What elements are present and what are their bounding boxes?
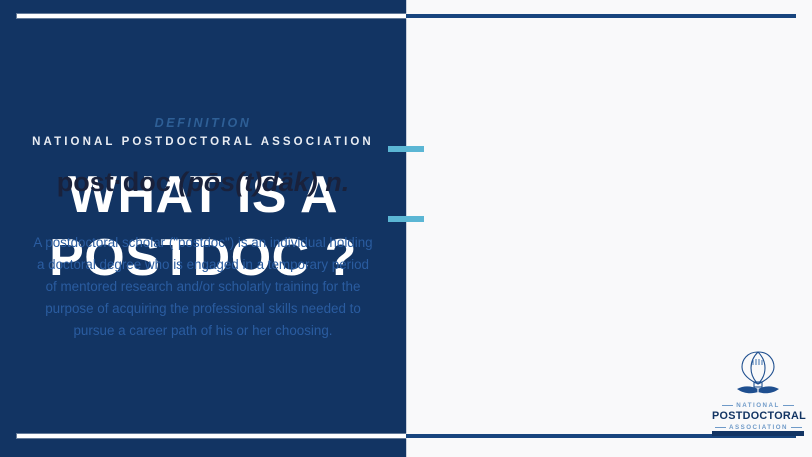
balloon-book-icon — [731, 349, 785, 399]
logo-underline-bar — [712, 431, 804, 436]
logo-tick-left-2 — [715, 427, 726, 428]
definition-label: DEFINITION — [0, 116, 406, 130]
definition-body: A postdoctoral scholar ("postdoc") is an… — [30, 232, 376, 342]
headword-pronunciation: (pōs(t)däk) n. — [178, 167, 349, 197]
slide-canvas: NATIONAL POSTDOCTORAL ASSOCIATION WHAT I… — [0, 0, 812, 457]
headword: post·doc (pōs(t)däk) n. — [0, 167, 406, 198]
organization-eyebrow: NATIONAL POSTDOCTORAL ASSOCIATION — [0, 136, 406, 148]
top-rule-left — [17, 14, 406, 18]
top-rule-right — [406, 14, 796, 18]
divider-dash-bottom — [388, 216, 424, 222]
bottom-rule-left — [17, 434, 406, 438]
divider-dash-top — [388, 146, 424, 152]
logo-tick-right — [783, 405, 794, 406]
logo-wordmark: NATIONAL POSTDOCTORAL ASSOCIATION — [712, 401, 804, 432]
logo-line-national: NATIONAL — [712, 401, 804, 410]
logo-line-postdoctoral: POSTDOCTORAL — [712, 410, 804, 423]
npa-logo: NATIONAL POSTDOCTORAL ASSOCIATION — [712, 349, 804, 437]
logo-tick-right-2 — [791, 427, 802, 428]
headword-term: post·doc — [57, 167, 171, 197]
logo-tick-left — [722, 405, 733, 406]
